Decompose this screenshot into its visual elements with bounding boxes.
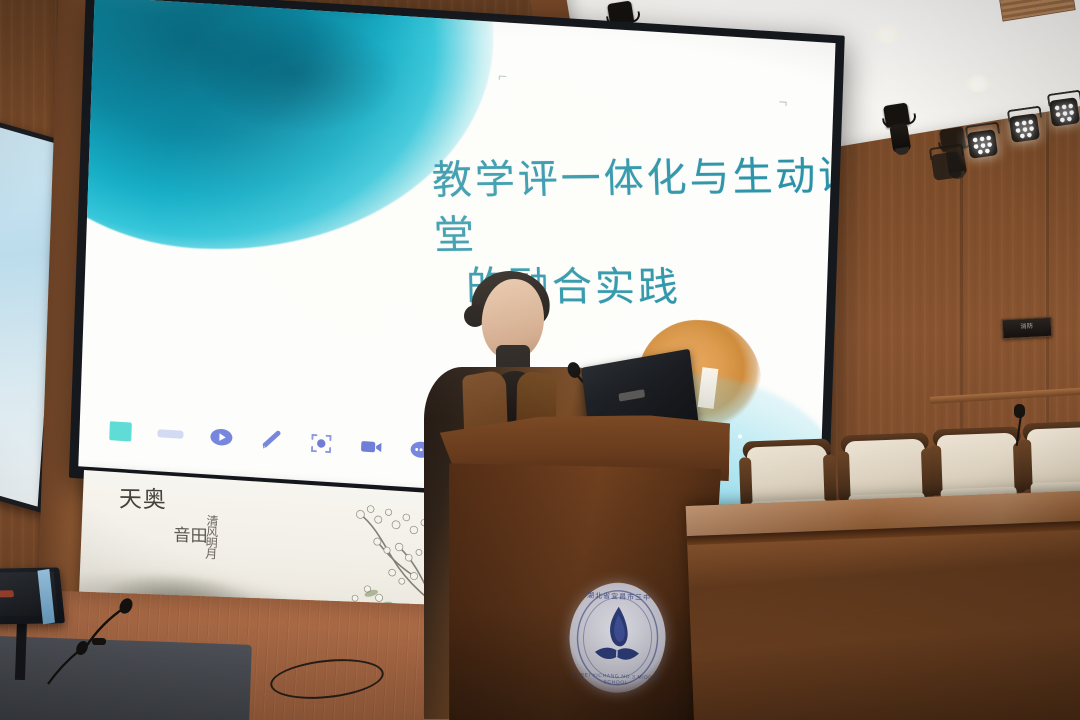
desk-microphone bbox=[30, 640, 90, 700]
table-microphone bbox=[1016, 404, 1023, 444]
pen-icon[interactable] bbox=[259, 428, 284, 453]
ceiling-downlight bbox=[965, 75, 991, 92]
conference-table bbox=[686, 490, 1080, 720]
wall-sign-plate: 消防 bbox=[1002, 317, 1053, 340]
play-icon[interactable] bbox=[209, 424, 234, 449]
speaking-podium: 湖北省宜昌市三中 HUBEI YICHANG NO.3 MIDDLE SCHOO… bbox=[434, 411, 730, 720]
slide-title-line-1: 教学评一体化与生动课堂 bbox=[431, 149, 836, 264]
wall-sign-label: 消防 bbox=[1003, 318, 1052, 336]
color-swatch[interactable] bbox=[109, 421, 132, 441]
prev-slide-bar[interactable] bbox=[157, 429, 183, 439]
school-emblem: 湖北省宜昌市三中 HUBEI YICHANG NO.3 MIDDLE SCHOO… bbox=[567, 581, 667, 695]
par-can-light bbox=[1006, 106, 1042, 144]
lecture-hall-photo: 消防 ⌐ ¬ 教学评一体化与生动课堂 的融合实践 bbox=[0, 0, 1080, 720]
par-can-light bbox=[1046, 90, 1080, 128]
par-can-light bbox=[964, 122, 1000, 160]
control-monitor-accent bbox=[0, 590, 14, 597]
corner-mark-right: ¬ bbox=[778, 94, 787, 112]
control-monitor[interactable] bbox=[0, 568, 65, 625]
corner-mark-left: ⌐ bbox=[498, 68, 507, 86]
par-can-light bbox=[928, 144, 964, 182]
video-icon[interactable] bbox=[359, 434, 384, 459]
ceiling-downlight bbox=[872, 24, 902, 44]
mural-calligraphy: 天奥 bbox=[119, 488, 167, 513]
laser-pointer-icon[interactable] bbox=[309, 431, 334, 456]
mural-stamp: 清风明月 bbox=[203, 514, 222, 559]
